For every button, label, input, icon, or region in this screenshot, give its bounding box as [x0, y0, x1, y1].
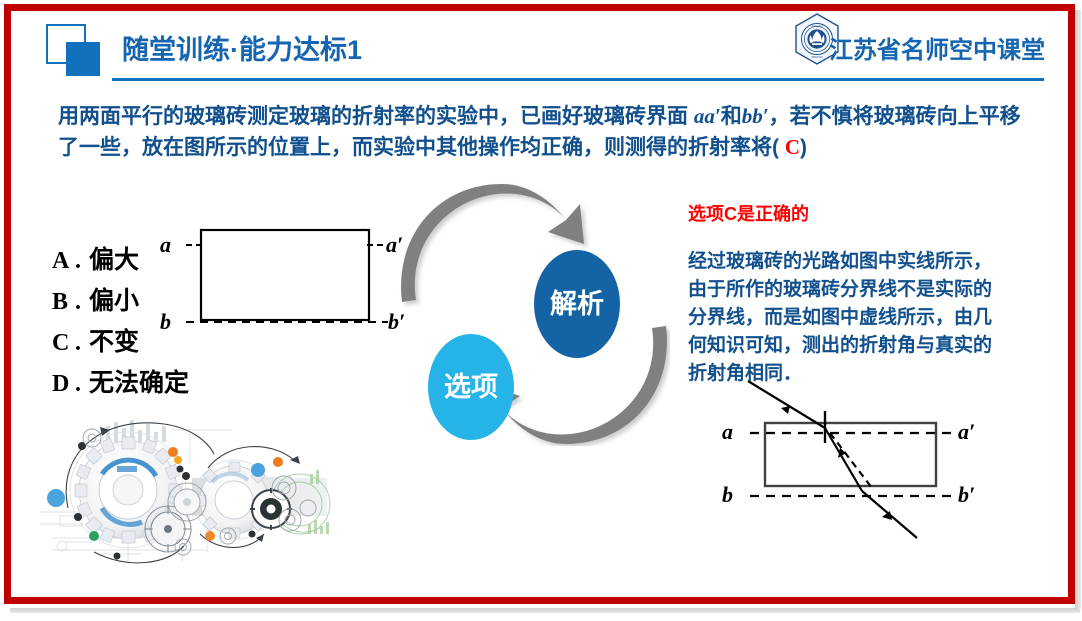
- option-label: 无法确定: [89, 363, 189, 399]
- svg-text:MINGSHI: MINGSHI: [811, 55, 822, 59]
- square-filled-decoration-icon: [66, 42, 100, 76]
- question-text-part1: 用两面平行的玻璃砖测定玻璃的折射率的实验中，已画好玻璃砖界面: [58, 105, 688, 128]
- diagram1-label-a: a: [160, 232, 171, 258]
- explanation-title: 选项C是正确的: [688, 200, 809, 226]
- slide-shadow-right: [1075, 10, 1081, 610]
- brand-name: 江苏省名师空中课堂: [829, 30, 1045, 65]
- option-key: A: [52, 248, 69, 275]
- analysis-bubble-label: 解析: [550, 289, 604, 319]
- gear-small-mid-icon: [168, 483, 206, 521]
- option-separator: .: [69, 330, 89, 357]
- question-stem: 用两面平行的玻璃砖测定玻璃的折射率的实验中，已画好玻璃砖界面 aa′和bb′，若…: [58, 101, 1023, 163]
- options-bubble-label: 选项: [444, 372, 498, 402]
- page-title: 随堂训练·能力达标1: [122, 28, 362, 67]
- option-label: 偏小: [89, 281, 139, 317]
- glass-brick-shifted-diagram: a a′ b b′: [160, 218, 420, 343]
- gears-technology-illustration-icon: [32, 412, 374, 584]
- option-label: 不变: [89, 322, 139, 358]
- circular-arrows-graphic: 解析 选项: [398, 182, 670, 446]
- svg-text:JIANGSU: JIANGSU: [811, 24, 822, 28]
- option-key: D: [52, 371, 69, 398]
- diagram2-label-a-prime: a′: [958, 419, 975, 445]
- header-divider: [112, 78, 1044, 81]
- interface-label-bb-prime: bb′: [742, 104, 769, 128]
- option-separator: .: [69, 248, 89, 275]
- analysis-bubble[interactable]: 解析: [534, 250, 620, 358]
- question-joiner: 和: [721, 105, 742, 128]
- option-separator: .: [69, 289, 89, 316]
- explanation-body: 经过玻璃砖的光路如图中实线所示，由于所作的玻璃砖分界线不是实际的分界线，而是如图…: [688, 248, 1010, 388]
- slide-shadow-bottom: [10, 608, 1080, 613]
- option-label: 偏大: [89, 240, 139, 276]
- diagram2-label-b-prime: b′: [958, 482, 975, 508]
- diagram2-label-a: a: [722, 419, 733, 445]
- diagram2-label-b: b: [722, 482, 733, 508]
- option-separator: .: [69, 371, 89, 398]
- ray-path-through-glass-brick-diagram: a a′ b b′: [712, 378, 1030, 550]
- option-key: C: [52, 330, 69, 357]
- option-item-d[interactable]: D . 无法确定: [52, 363, 252, 404]
- options-bubble[interactable]: 选项: [428, 334, 514, 440]
- interface-label-aa-prime: aa′: [694, 104, 721, 128]
- diagram1-label-b: b: [160, 309, 171, 335]
- question-text-part3: ): [800, 136, 807, 159]
- answer-marker: C: [785, 135, 800, 159]
- option-key: B: [52, 289, 69, 316]
- slide-canvas: 随堂训练·能力达标1 JIANGSU MINGSHI 江苏省名师空中课堂 用两面…: [0, 0, 1082, 621]
